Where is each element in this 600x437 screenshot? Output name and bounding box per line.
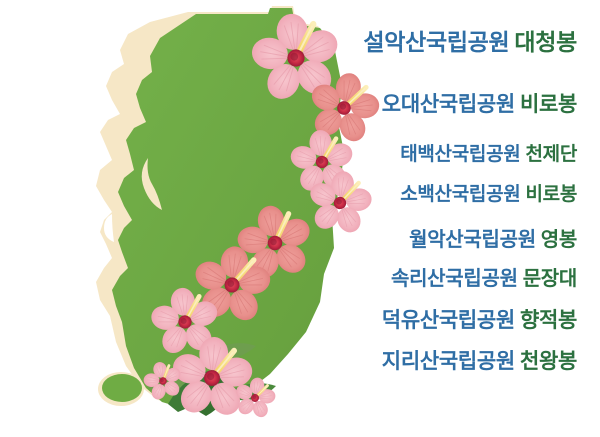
- park-label-jirisan: 지리산국립공원천왕봉: [382, 351, 577, 372]
- park-label-songnisan: 속리산국립공원문장대: [391, 269, 577, 289]
- park-label-seoraksan: 설악산국립공원대청봉: [363, 31, 577, 54]
- park-label-odaesan: 오대산국립공원비로봉: [382, 94, 577, 115]
- peak-name: 영봉: [541, 229, 577, 251]
- park-name: 설악산국립공원: [363, 29, 509, 55]
- park-name: 속리산국립공원: [391, 268, 518, 290]
- peak-name: 향적봉: [520, 309, 577, 332]
- park-label-taebaeksan: 태백산국립공원천제단: [400, 145, 577, 164]
- peak-name: 비로봉: [520, 93, 577, 116]
- peak-name: 비로봉: [525, 184, 577, 205]
- peak-name: 대청봉: [514, 29, 577, 55]
- park-name: 덕유산국립공원: [382, 309, 515, 332]
- park-name: 오대산국립공원: [382, 93, 515, 116]
- peak-name: 천제단: [525, 144, 577, 165]
- park-label-deogyusan: 덕유산국립공원향적봉: [382, 310, 577, 331]
- park-label-list: 설악산국립공원대청봉 오대산국립공원비로봉 태백산국립공원천제단 소백산국립공원…: [0, 0, 600, 437]
- park-name: 월악산국립공원: [409, 229, 536, 251]
- park-label-sobaeksan: 소백산국립공원비로봉: [400, 185, 577, 204]
- park-name: 태백산국립공원: [400, 144, 520, 165]
- peak-name: 천왕봉: [520, 350, 577, 373]
- artwork-canvas: 설악산국립공원대청봉 오대산국립공원비로봉 태백산국립공원천제단 소백산국립공원…: [0, 0, 600, 437]
- park-name: 소백산국립공원: [400, 184, 520, 205]
- park-label-woraksan: 월악산국립공원영봉: [409, 230, 577, 250]
- park-name: 지리산국립공원: [382, 350, 515, 373]
- peak-name: 문장대: [523, 268, 577, 290]
